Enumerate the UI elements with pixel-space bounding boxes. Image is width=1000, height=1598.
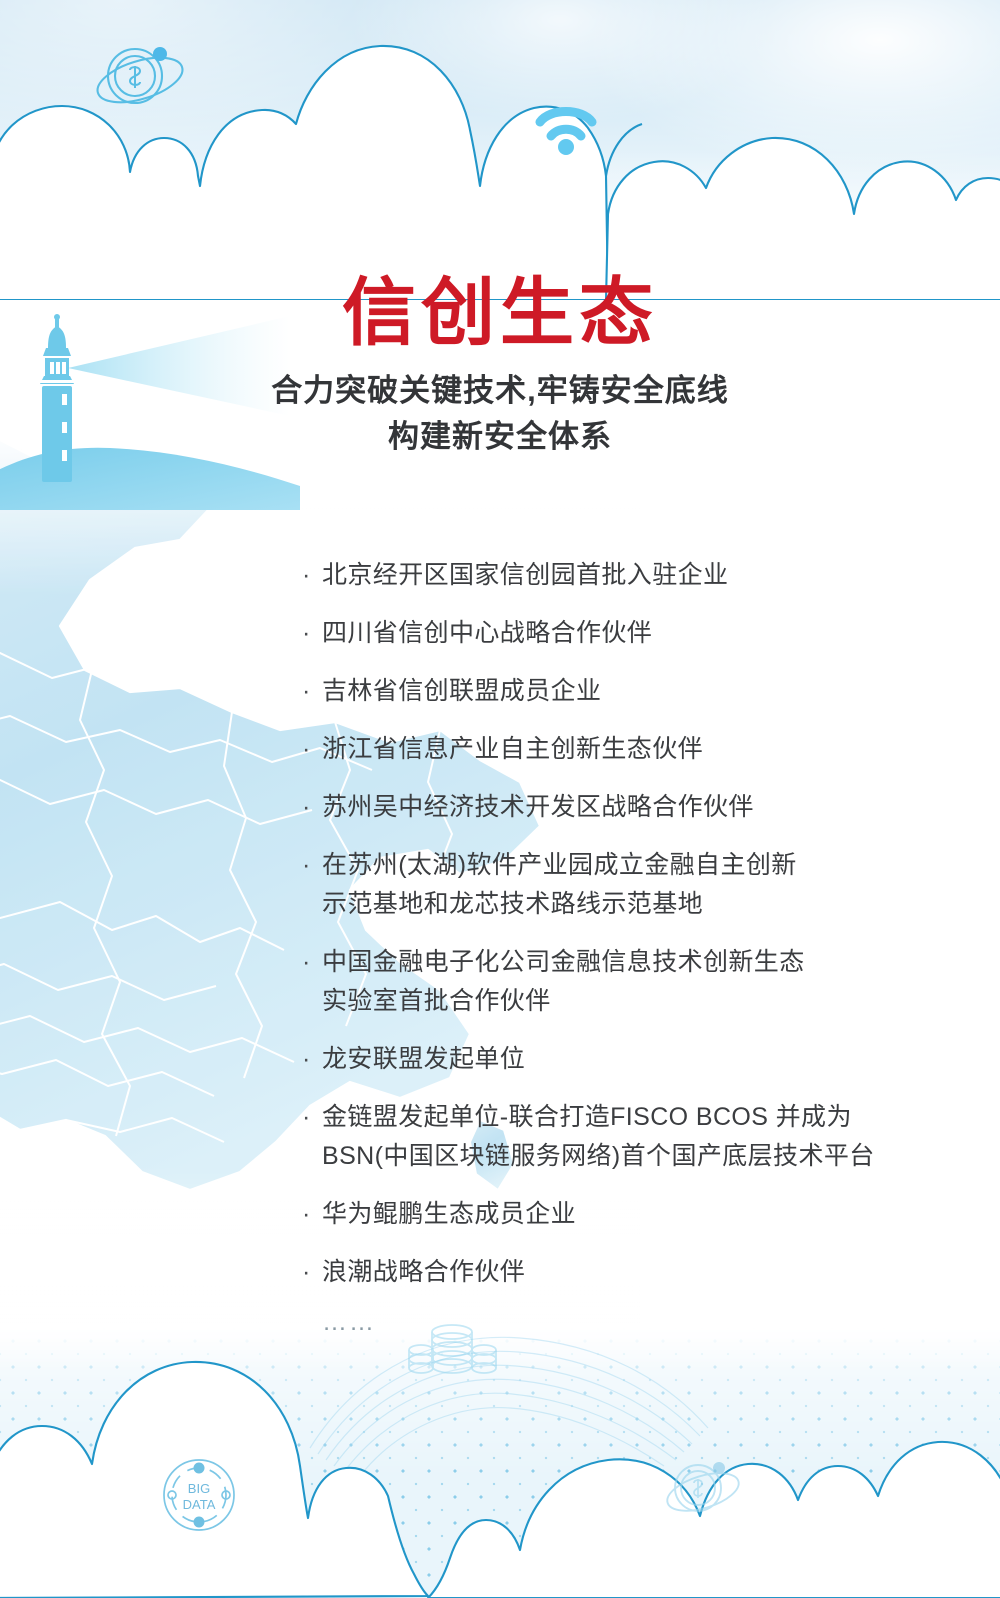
list-item: ·四川省信创中心战略合作伙伴: [298, 614, 938, 653]
subtitle-line-2: 构建新安全体系: [0, 414, 1000, 460]
coin-planet-icon: [88, 32, 194, 122]
list-item-line: 中国金融电子化公司金融信息技术创新生态: [322, 943, 938, 982]
list-item: ·华为鲲鹏生态成员企业: [298, 1195, 938, 1234]
list-item-line: 浙江省信息产业自主创新生态伙伴: [322, 730, 938, 769]
list-item-line: BSN(中国区块链服务网络)首个国产底层技术平台: [322, 1137, 938, 1176]
list-bullet: ·: [302, 614, 311, 653]
list-item: ·龙安联盟发起单位: [298, 1040, 938, 1079]
list-item: ·金链盟发起单位-联合打造FISCO BCOS 并成为BSN(中国区块链服务网络…: [298, 1098, 938, 1176]
list-bullet: ·: [302, 846, 311, 885]
list-item-line: 华为鲲鹏生态成员企业: [322, 1195, 938, 1234]
list-bullet: ·: [302, 1195, 311, 1234]
list-bullet: ·: [302, 672, 311, 711]
wifi-icon: [530, 98, 602, 156]
list-item-line: 北京经开区国家信创园首批入驻企业: [322, 556, 938, 595]
list-item-line: 吉林省信创联盟成员企业: [322, 672, 938, 711]
page-subtitle: 合力突破关键技术,牢铸安全底线 构建新安全体系: [0, 368, 1000, 460]
list-item-line: 苏州吴中经济技术开发区战略合作伙伴: [322, 788, 938, 827]
list-item-line: 实验室首批合作伙伴: [322, 982, 938, 1021]
list-item: ·在苏州(太湖)软件产业园成立金融自主创新示范基地和龙芯技术路线示范基地: [298, 846, 938, 924]
achievement-list: ·北京经开区国家信创园首批入驻企业·四川省信创中心战略合作伙伴·吉林省信创联盟成…: [298, 556, 938, 1337]
list-bullet: ·: [302, 556, 311, 595]
list-bullet: ·: [302, 1253, 311, 1292]
list-item-line: 浪潮战略合作伙伴: [322, 1253, 938, 1292]
list-item-line: 在苏州(太湖)软件产业园成立金融自主创新: [322, 846, 938, 885]
list-bullet: ·: [302, 943, 311, 982]
coin-planet-icon-bottom: [660, 1448, 746, 1528]
page-title: 信创生态: [0, 272, 1000, 354]
list-bullet: ·: [302, 1098, 311, 1137]
subtitle-line-1: 合力突破关键技术,牢铸安全底线: [0, 368, 1000, 414]
list-item: ·浪潮战略合作伙伴: [298, 1253, 938, 1292]
list-item: ·吉林省信创联盟成员企业: [298, 672, 938, 711]
list-bullet: ·: [302, 788, 311, 827]
list-bullet: ·: [302, 730, 311, 769]
list-item: ·浙江省信息产业自主创新生态伙伴: [298, 730, 938, 769]
list-bullet: ·: [302, 1040, 311, 1079]
list-item-line: 龙安联盟发起单位: [322, 1040, 938, 1079]
big-data-line2: DATA: [183, 1497, 216, 1512]
cloud-outline-bottom: [0, 1298, 1000, 1598]
list-item-line: 四川省信创中心战略合作伙伴: [322, 614, 938, 653]
list-item: ·苏州吴中经济技术开发区战略合作伙伴: [298, 788, 938, 827]
list-item: ·中国金融电子化公司金融信息技术创新生态实验室首批合作伙伴: [298, 943, 938, 1021]
list-item-line: 金链盟发起单位-联合打造FISCO BCOS 并成为: [322, 1098, 938, 1137]
title-block: 信创生态 合力突破关键技术,牢铸安全底线 构建新安全体系: [0, 272, 1000, 460]
list-item: ·北京经开区国家信创园首批入驻企业: [298, 556, 938, 595]
list-item-line: 示范基地和龙芯技术路线示范基地: [322, 885, 938, 924]
poster-canvas: BIG DATA 信创生态 合力突破关键技术,牢铸安全底线 构建新安全体系 ·北…: [0, 0, 1000, 1598]
big-data-badge-icon: BIG DATA: [156, 1452, 242, 1538]
big-data-line1: BIG: [188, 1481, 210, 1496]
list-ellipsis: ……: [298, 1307, 938, 1337]
